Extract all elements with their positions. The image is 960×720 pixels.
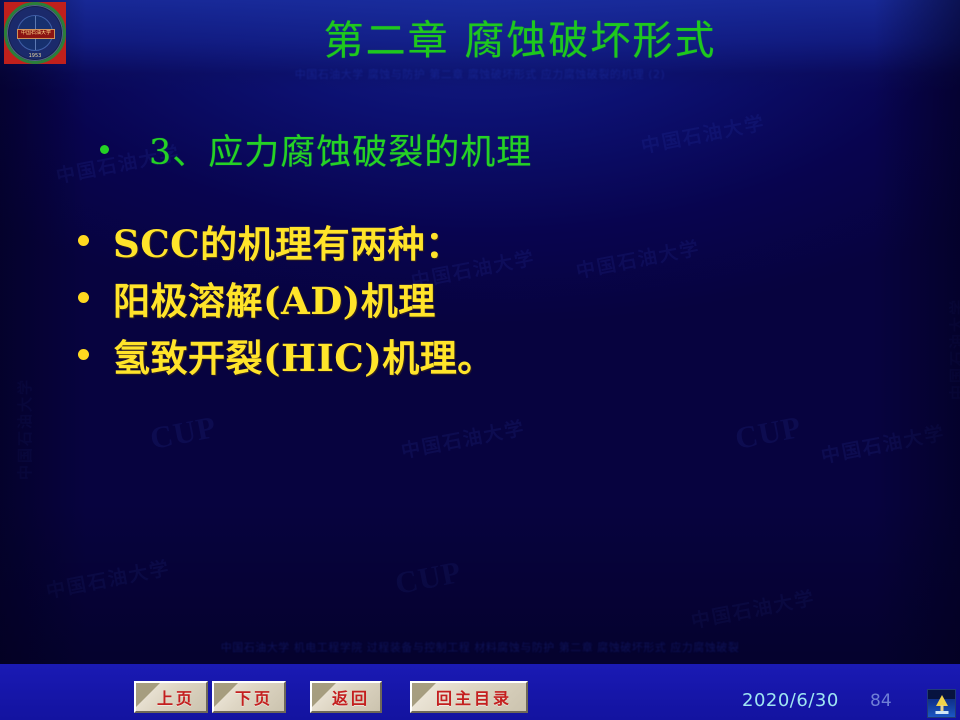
logo-base <box>935 711 948 714</box>
seal-year: 1953 <box>7 53 63 59</box>
list-item-label: 氢致开裂(HIC)机理。 <box>113 328 495 382</box>
list-item: SCC的机理有两种： <box>78 212 960 269</box>
list-item-label: 阳极溶解(AD)机理 <box>113 271 436 325</box>
bullet-list: SCC的机理有两种： 阳极溶解(AD)机理 氢致开裂(HIC)机理。 <box>0 212 960 383</box>
footer-page-number: 84 <box>870 691 892 711</box>
next-page-button[interactable]: 下页 <box>212 681 286 713</box>
seal-band-label: 中国石油大学 <box>17 29 55 39</box>
ghost-text-bottom: 中国石油大学 机电工程学院 过程装备与控制工程 材料腐蚀与防护 第二章 腐蚀破坏… <box>0 639 960 655</box>
footer-date: 2020/6/30 <box>742 690 839 711</box>
slide-canvas: 中国石油大学 中国石油大学 中国石油大学 中国石油大学 中国石油大学 中国石油大… <box>0 0 960 720</box>
next-page-label: 下页 <box>225 685 273 709</box>
page-title: 第二章 腐蚀破坏形式 <box>240 8 800 66</box>
list-item: 阳极溶解(AD)机理 <box>78 269 960 326</box>
prev-page-label: 上页 <box>147 685 195 709</box>
list-item-label: SCC的机理有两种： <box>113 214 463 268</box>
section-heading: 3、应力腐蚀破裂的机理 <box>0 120 960 178</box>
bullet-icon <box>78 349 89 360</box>
back-button[interactable]: 返回 <box>310 681 382 713</box>
heading-bullet-icon <box>100 145 109 154</box>
university-logo: 中国石油大学 1953 <box>4 2 66 64</box>
list-item: 氢致开裂(HIC)机理。 <box>78 326 960 383</box>
main-menu-button[interactable]: 回主目录 <box>410 681 528 713</box>
section-heading-label: 3、应力腐蚀破裂的机理 <box>149 124 532 175</box>
petroleum-torch-logo-icon <box>927 689 956 718</box>
bullet-icon <box>78 235 89 246</box>
university-seal-icon: 中国石油大学 1953 <box>4 2 66 64</box>
bullet-icon <box>78 292 89 303</box>
main-menu-label: 回主目录 <box>426 685 512 709</box>
ghost-text-top: 中国石油大学 腐蚀与防护 第二章 腐蚀破坏形式 应力腐蚀破裂的机理 (2) <box>0 66 960 82</box>
slide-content: 3、应力腐蚀破裂的机理 SCC的机理有两种： 阳极溶解(AD)机理 氢致开裂(H… <box>0 120 960 383</box>
prev-page-button[interactable]: 上页 <box>134 681 208 713</box>
back-label: 返回 <box>322 685 370 709</box>
